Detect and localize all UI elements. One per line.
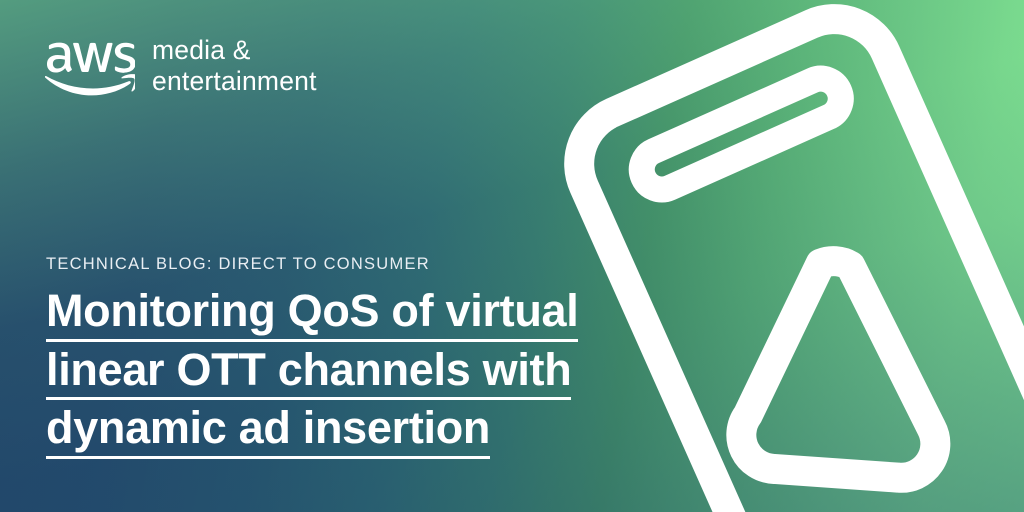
headline-line-1: Monitoring QoS of virtual xyxy=(46,287,578,342)
hero-copy: TECHNICAL BLOG: DIRECT TO CONSUMER Monit… xyxy=(46,255,706,463)
eyebrow-label: TECHNICAL BLOG: DIRECT TO CONSUMER xyxy=(46,255,706,274)
brand-line-2: entertainment xyxy=(152,66,317,97)
brand-name: media & entertainment xyxy=(152,35,317,98)
blog-hero-banner: media & entertainment TECHNICAL BLOG: DI… xyxy=(0,0,1024,512)
brand-line-1: media & xyxy=(152,35,251,65)
headline-line-3: dynamic ad insertion xyxy=(46,404,490,459)
headline-line-2: linear OTT channels with xyxy=(46,346,571,401)
page-title: Monitoring QoS of virtual linear OTT cha… xyxy=(46,287,706,459)
aws-logo-icon xyxy=(45,39,135,97)
aws-media-entertainment-logo: media & entertainment xyxy=(45,35,317,98)
